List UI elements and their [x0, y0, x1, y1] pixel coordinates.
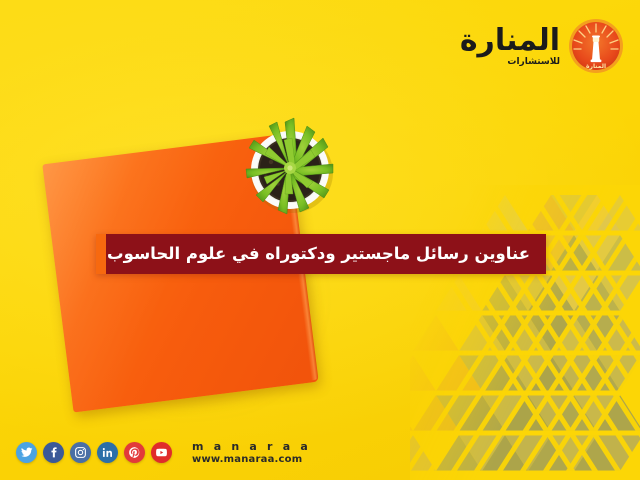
youtube-icon[interactable] [151, 442, 172, 463]
linkedin-icon[interactable] [97, 442, 118, 463]
brand-wordmark: المنارة للاستشارات [460, 26, 560, 67]
potted-agave-plant [235, 110, 345, 222]
banner-accent-edge [96, 234, 106, 274]
page-title: عناوين رسائل ماجستير ودكتوراه في علوم ال… [107, 246, 530, 263]
triangle-mosaic-pattern [410, 185, 640, 480]
footer-text-block: m a n a r a a www.manaraa.com [192, 440, 311, 466]
footer-website[interactable]: www.manaraa.com [192, 454, 311, 467]
brand-tagline: للاستشارات [507, 58, 560, 67]
poster-canvas: عناوين رسائل ماجستير ودكتوراه في علوم ال… [0, 0, 640, 480]
title-banner: عناوين رسائل ماجستير ودكتوراه في علوم ال… [96, 234, 546, 274]
pinterest-icon[interactable] [124, 442, 145, 463]
footer-bar: m a n a r a a www.manaraa.com [16, 440, 311, 466]
instagram-icon[interactable] [70, 442, 91, 463]
brand-name: المنارة [460, 26, 560, 56]
brand-logo[interactable]: المنارة المنارة للاستشارات [460, 16, 624, 76]
twitter-icon[interactable] [16, 442, 37, 463]
footer-brand-text: m a n a r a a [192, 440, 311, 454]
facebook-icon[interactable] [43, 442, 64, 463]
svg-text:المنارة: المنارة [586, 63, 606, 70]
lighthouse-emblem-icon: المنارة [568, 18, 624, 74]
